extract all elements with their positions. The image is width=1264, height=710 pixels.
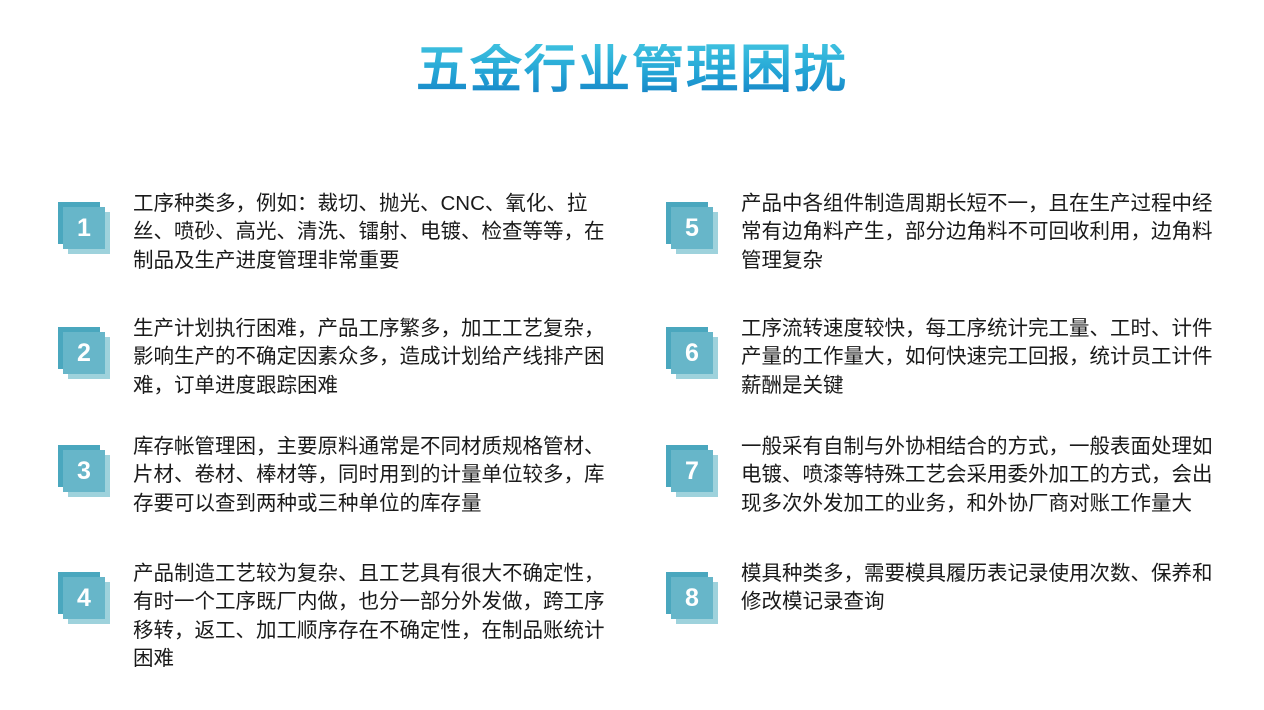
list-item: 7 一般采有自制与外协相结合的方式，一般表面处理如电镀、喷漆等特殊工艺会采用委外… [666, 433, 1226, 518]
slide-root: { "slide": { "title": "五金行业管理困扰", "backg… [0, 0, 1264, 710]
number-badge: 3 [58, 445, 112, 497]
badge-number: 6 [685, 341, 699, 366]
page-title: 五金行业管理困扰 [0, 44, 1264, 96]
list-item-text: 库存帐管理困，主要原料通常是不同材质规格管材、片材、卷材、棒材等，同时用到的计量… [133, 433, 618, 518]
number-badge: 6 [666, 327, 720, 379]
list-item: 1 工序种类多，例如：裁切、抛光、CNC、氧化、拉丝、喷砂、高光、清洗、镭射、电… [58, 190, 618, 275]
bullet-grid: 1 工序种类多，例如：裁切、抛光、CNC、氧化、拉丝、喷砂、高光、清洗、镭射、电… [0, 190, 1264, 670]
badge-square-front: 4 [63, 577, 105, 619]
list-item: 8 模具种类多，需要模具履历表记录使用次数、保养和修改模记录查询 [666, 560, 1226, 624]
list-item-text: 产品中各组件制造周期长短不一，且在生产过程中经常有边角料产生，部分边角料不可回收… [741, 190, 1226, 275]
badge-number: 2 [77, 341, 91, 366]
list-item-text: 工序流转速度较快，每工序统计完工量、工时、计件产量的工作量大，如何快速完工回报，… [741, 315, 1226, 400]
list-item: 6 工序流转速度较快，每工序统计完工量、工时、计件产量的工作量大，如何快速完工回… [666, 315, 1226, 400]
list-item-text: 工序种类多，例如：裁切、抛光、CNC、氧化、拉丝、喷砂、高光、清洗、镭射、电镀、… [133, 190, 618, 275]
badge-square-front: 3 [63, 450, 105, 492]
list-item-text: 生产计划执行困难，产品工序繁多，加工工艺复杂，影响生产的不确定因素众多，造成计划… [133, 315, 618, 400]
list-item: 3 库存帐管理困，主要原料通常是不同材质规格管材、片材、卷材、棒材等，同时用到的… [58, 433, 618, 518]
list-item-text: 一般采有自制与外协相结合的方式，一般表面处理如电镀、喷漆等特殊工艺会采用委外加工… [741, 433, 1226, 518]
list-item: 4 产品制造工艺较为复杂、且工艺具有很大不确定性，有时一个工序既厂内做，也分一部… [58, 560, 618, 673]
badge-square-front: 1 [63, 207, 105, 249]
list-item-text: 产品制造工艺较为复杂、且工艺具有很大不确定性，有时一个工序既厂内做，也分一部分外… [133, 560, 618, 673]
number-badge: 1 [58, 202, 112, 254]
badge-square-front: 2 [63, 332, 105, 374]
badge-square-front: 7 [671, 450, 713, 492]
badge-number: 3 [77, 459, 91, 484]
badge-square-front: 6 [671, 332, 713, 374]
badge-number: 4 [77, 586, 91, 611]
badge-square-front: 5 [671, 207, 713, 249]
list-item: 2 生产计划执行困难，产品工序繁多，加工工艺复杂，影响生产的不确定因素众多，造成… [58, 315, 618, 400]
list-item-text: 模具种类多，需要模具履历表记录使用次数、保养和修改模记录查询 [741, 560, 1226, 617]
list-item: 5 产品中各组件制造周期长短不一，且在生产过程中经常有边角料产生，部分边角料不可… [666, 190, 1226, 275]
number-badge: 5 [666, 202, 720, 254]
number-badge: 8 [666, 572, 720, 624]
number-badge: 2 [58, 327, 112, 379]
badge-square-front: 8 [671, 577, 713, 619]
badge-number: 7 [685, 459, 699, 484]
number-badge: 4 [58, 572, 112, 624]
badge-number: 1 [77, 216, 91, 241]
badge-number: 5 [685, 216, 699, 241]
number-badge: 7 [666, 445, 720, 497]
badge-number: 8 [685, 586, 699, 611]
